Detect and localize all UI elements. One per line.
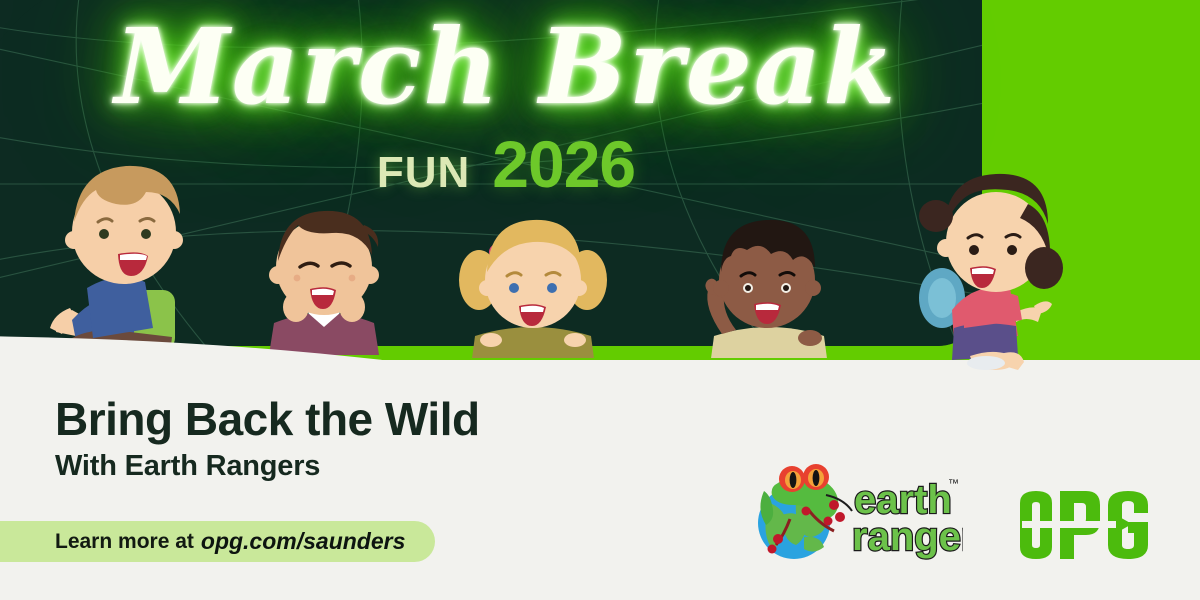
page-title: Bring Back the Wild	[55, 392, 480, 446]
event-banner: March Break FUN 2026	[0, 0, 1200, 600]
learn-more-pill[interactable]: Learn more at opg.com/saunders	[0, 521, 435, 562]
kid-brunette-hands-cheeks	[252, 205, 397, 355]
year-label: 2026	[492, 126, 635, 202]
learn-more-url[interactable]: opg.com/saunders	[201, 528, 405, 555]
earth-rangers-word-bottom: rangers	[852, 515, 963, 559]
kid-girl-pigtails	[457, 218, 609, 358]
neon-title: March Break	[0, 14, 1012, 120]
kid-girl-backpack-sitting	[908, 170, 1093, 370]
page-subtitle: With Earth Rangers	[55, 450, 320, 483]
earth-rangers-logo: earth rangers ™	[748, 455, 963, 567]
learn-more-label: Learn more at	[55, 530, 194, 554]
trademark-symbol: ™	[948, 478, 959, 490]
kid-boy-waving-blonde	[32, 160, 222, 365]
kid-boy-waving-dark	[692, 218, 842, 358]
fun-label: FUN	[377, 148, 470, 198]
opg-logo	[1018, 489, 1150, 561]
